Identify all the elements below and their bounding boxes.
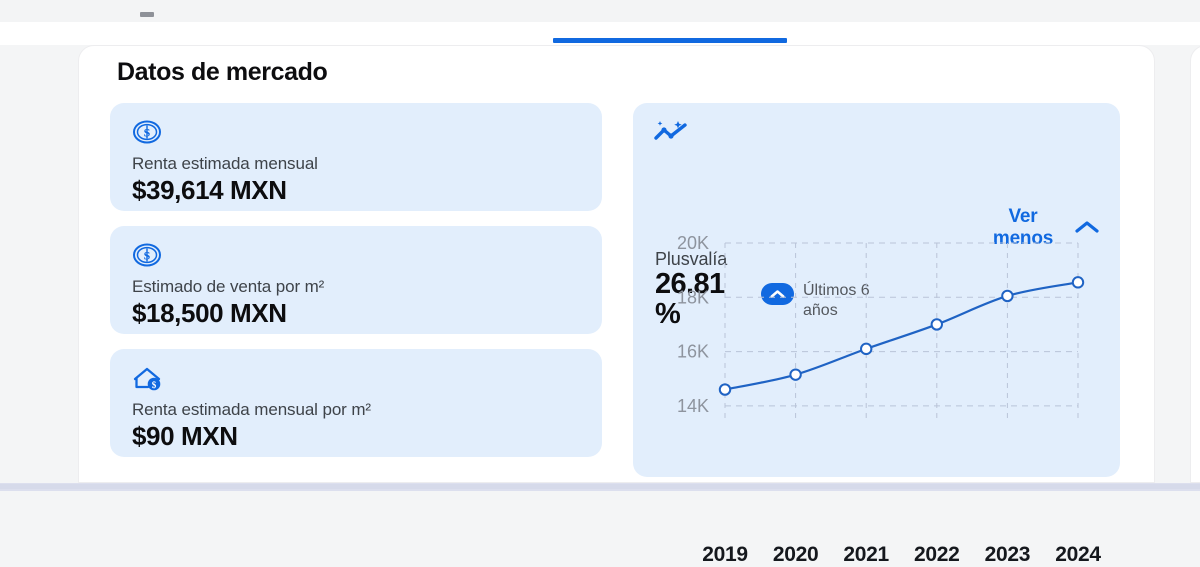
trend-sparkle-icon xyxy=(653,118,691,148)
stat-label: Estimado de venta por m² xyxy=(132,276,580,297)
chart-x-tick-label: 2022 xyxy=(903,543,971,567)
plusvalia-line-chart: 20K18K16K14K xyxy=(633,231,1120,477)
stat-label: Renta estimada mensual xyxy=(132,153,580,174)
chart-canvas: 20K18K16K14K xyxy=(633,231,1120,477)
horizontal-scrollbar-thumb[interactable] xyxy=(0,484,1200,489)
chart-data-point xyxy=(790,369,800,379)
window-top-strip xyxy=(0,0,1200,22)
chart-x-tick-label: 2019 xyxy=(691,543,759,567)
stat-card-estimado-de-venta-por-m2[interactable]: S Estimado de venta por m² $18,500 MXN xyxy=(110,226,602,334)
page-title: Datos de mercado xyxy=(117,58,327,87)
svg-text:$: $ xyxy=(152,380,157,390)
chart-data-point xyxy=(720,384,730,394)
chart-data-point xyxy=(1073,277,1083,287)
chart-data-point xyxy=(1002,291,1012,301)
page-bottom-area xyxy=(0,491,1200,507)
chart-y-tick-label: 14K xyxy=(677,396,709,416)
dollar-circle-icon: S xyxy=(132,117,162,147)
house-dollar-icon: $ xyxy=(132,363,162,393)
stat-card-renta-estimada-mensual[interactable]: S Renta estimada mensual $39,614 MXN xyxy=(110,103,602,211)
adjacent-card-peek xyxy=(1190,45,1200,483)
stat-label: Renta estimada mensual por m² xyxy=(132,399,580,420)
stat-card-renta-estimada-mensual-por-m2[interactable]: $ Renta estimada mensual por m² $90 MXN xyxy=(110,349,602,457)
stat-value: $18,500 MXN xyxy=(132,299,580,329)
chart-x-tick-label: 2021 xyxy=(832,543,900,567)
chart-x-tick-label: 2024 xyxy=(1044,543,1112,567)
active-tab-indicator[interactable] xyxy=(553,38,787,43)
chart-y-tick-label: 16K xyxy=(677,342,709,362)
stat-value: $39,614 MXN xyxy=(132,176,580,206)
stat-value: $90 MXN xyxy=(132,422,580,452)
chart-x-tick-label: 2020 xyxy=(762,543,830,567)
dollar-circle-icon: S xyxy=(132,240,162,270)
chart-x-tick-label: 2023 xyxy=(973,543,1041,567)
chart-data-point xyxy=(932,319,942,329)
chart-y-tick-label: 18K xyxy=(677,287,709,307)
chart-data-point xyxy=(861,344,871,354)
chart-line-series xyxy=(725,282,1078,389)
plusvalia-chart-card: Ver menos Plusvalía 26.81 % Últimos 6 añ… xyxy=(633,103,1120,477)
truncated-header-text-fragment xyxy=(140,12,154,17)
chart-y-tick-label: 20K xyxy=(677,233,709,253)
